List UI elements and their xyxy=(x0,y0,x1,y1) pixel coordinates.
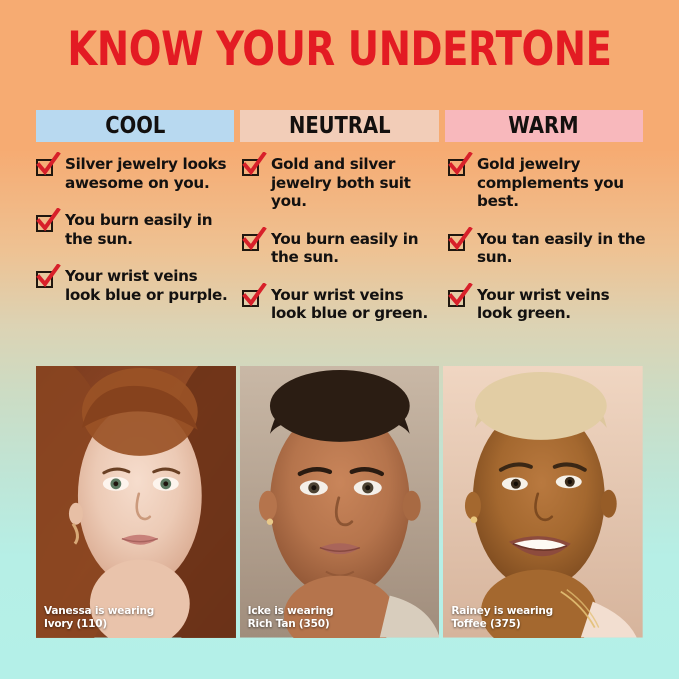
checklist-item-label: You tan easily in the sun. xyxy=(477,230,648,267)
portrait-image-rainey xyxy=(443,366,643,638)
checklist-column-cool: Silver jewelry looks awesome on you. You… xyxy=(36,155,236,342)
checkbox-icon xyxy=(448,232,468,252)
undertone-infographic: KNOW YOUR UNDERTONE COOL NEUTRAL WARM Si… xyxy=(0,0,679,679)
model-photo-vanessa: Vanessa is wearing Ivory (110) xyxy=(36,366,236,638)
checklist-item-label: Your wrist veins look blue or green. xyxy=(271,286,442,323)
checklist-column-neutral: Gold and silver jewelry both suit you. Y… xyxy=(242,155,442,342)
column-header-row: COOL NEUTRAL WARM xyxy=(36,110,643,142)
checklist-item: Your wrist veins look blue or green. xyxy=(242,286,442,323)
checkbox-icon xyxy=(36,157,56,177)
checklist-item: Your wrist veins look blue or purple. xyxy=(36,267,236,304)
check-icon xyxy=(447,152,473,178)
photo-caption-line2: Toffee (375) xyxy=(451,618,553,630)
column-header-neutral: NEUTRAL xyxy=(240,110,438,142)
check-icon xyxy=(35,264,61,290)
page-title: KNOW YOUR UNDERTONE xyxy=(61,26,618,73)
column-header-cool: COOL xyxy=(36,110,234,142)
photo-caption-line2: Ivory (110) xyxy=(44,618,154,630)
checklist-item-label: Gold and silver jewelry both suit you. xyxy=(271,155,442,211)
check-icon xyxy=(35,208,61,234)
checklist-item: Gold jewelry complements you best. xyxy=(448,155,648,211)
photo-caption-line1: Vanessa is wearing xyxy=(44,605,154,617)
checklist-item-label: Your wrist veins look green. xyxy=(477,286,648,323)
check-icon xyxy=(241,227,267,253)
photo-caption-line2: Rich Tan (350) xyxy=(248,618,334,630)
portrait-image-vanessa xyxy=(36,366,236,638)
column-header-warm: WARM xyxy=(445,110,643,142)
checklist-item: Your wrist veins look green. xyxy=(448,286,648,323)
checklist-item-label: You burn easily in the sun. xyxy=(271,230,442,267)
check-icon xyxy=(35,152,61,178)
checkbox-icon xyxy=(36,269,56,289)
photo-caption-line1: Icke is wearing xyxy=(248,605,334,617)
column-header-warm-label: WARM xyxy=(509,113,579,139)
checklist-item-label: You burn easily in the sun. xyxy=(65,211,236,248)
check-icon xyxy=(241,152,267,178)
model-photo-rainey: Rainey is wearing Toffee (375) xyxy=(443,366,643,638)
checklist-item: You burn easily in the sun. xyxy=(36,211,236,248)
check-icon xyxy=(447,227,473,253)
photo-caption-rainey: Rainey is wearing Toffee (375) xyxy=(451,605,553,630)
model-photo-icke: Icke is wearing Rich Tan (350) xyxy=(240,366,440,638)
checklist-item-label: Gold jewelry complements you best. xyxy=(477,155,648,211)
check-icon xyxy=(241,283,267,309)
checkbox-icon xyxy=(242,232,262,252)
portrait-image-icke xyxy=(240,366,440,638)
checkbox-icon xyxy=(448,288,468,308)
column-header-neutral-label: NEUTRAL xyxy=(289,113,391,139)
checklist-item: Silver jewelry looks awesome on you. xyxy=(36,155,236,192)
checklist-item: Gold and silver jewelry both suit you. xyxy=(242,155,442,211)
photo-caption-line1: Rainey is wearing xyxy=(451,605,553,617)
checkbox-icon xyxy=(242,288,262,308)
checkbox-icon xyxy=(36,213,56,233)
checklist-item: You burn easily in the sun. xyxy=(242,230,442,267)
check-icon xyxy=(447,283,473,309)
checklist-item: You tan easily in the sun. xyxy=(448,230,648,267)
model-photo-strip: Vanessa is wearing Ivory (110) xyxy=(36,366,643,638)
photo-caption-icke: Icke is wearing Rich Tan (350) xyxy=(248,605,334,630)
photo-caption-vanessa: Vanessa is wearing Ivory (110) xyxy=(44,605,154,630)
checkbox-icon xyxy=(448,157,468,177)
checkbox-icon xyxy=(242,157,262,177)
checklist-column-warm: Gold jewelry complements you best. You t… xyxy=(448,155,648,342)
checklist-columns: Silver jewelry looks awesome on you. You… xyxy=(36,155,656,342)
checklist-item-label: Your wrist veins look blue or purple. xyxy=(65,267,236,304)
checklist-item-label: Silver jewelry looks awesome on you. xyxy=(65,155,236,192)
column-header-cool-label: COOL xyxy=(105,113,165,139)
